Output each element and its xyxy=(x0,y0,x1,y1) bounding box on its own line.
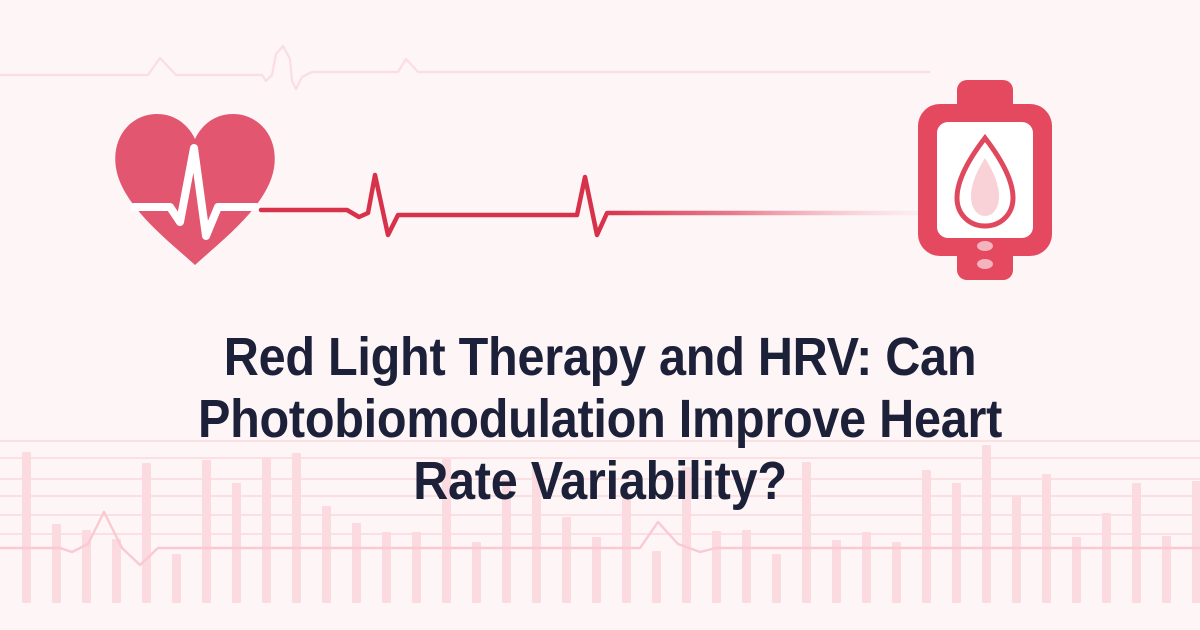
chart-bar xyxy=(772,554,781,603)
chart-bar xyxy=(1162,536,1171,603)
chart-bar xyxy=(1132,483,1141,603)
chart-bar xyxy=(52,524,61,603)
chart-bar xyxy=(862,532,871,603)
chart-bar xyxy=(1102,513,1111,603)
chart-bar xyxy=(352,523,361,603)
chart-bar xyxy=(82,530,91,603)
chart-bar xyxy=(22,452,31,603)
smartwatch-leaf-icon xyxy=(915,80,1055,280)
chart-bar xyxy=(1012,496,1021,603)
chart-bar xyxy=(112,539,121,603)
chart-bar xyxy=(712,531,721,603)
watch-button-lower xyxy=(977,259,993,269)
chart-bar xyxy=(1072,537,1081,603)
chart-bar xyxy=(322,506,331,603)
chart-bar xyxy=(1192,481,1200,603)
chart-bar xyxy=(592,537,601,603)
chart-bar xyxy=(412,532,421,603)
chart-bar xyxy=(172,554,181,603)
chart-bar xyxy=(742,530,751,603)
og-card: Red Light Therapy and HRV: Can Photobiom… xyxy=(0,0,1200,630)
chart-bar xyxy=(562,517,571,603)
chart-bar xyxy=(892,542,901,603)
watch-button-upper xyxy=(977,241,993,251)
title-line-3: Rate Variability? xyxy=(150,450,1050,512)
chart-bar xyxy=(382,532,391,603)
chart-bar xyxy=(832,540,841,603)
title-line-1: Red Light Therapy and HRV: Can xyxy=(150,326,1050,388)
hero-illustration-row xyxy=(0,70,1200,290)
chart-bar xyxy=(652,551,661,603)
chart-bar xyxy=(472,542,481,603)
page-title: Red Light Therapy and HRV: Can Photobiom… xyxy=(100,326,1100,512)
title-line-2: Photobiomodulation Improve Heart xyxy=(150,388,1050,450)
ecg-waveform xyxy=(255,165,925,245)
